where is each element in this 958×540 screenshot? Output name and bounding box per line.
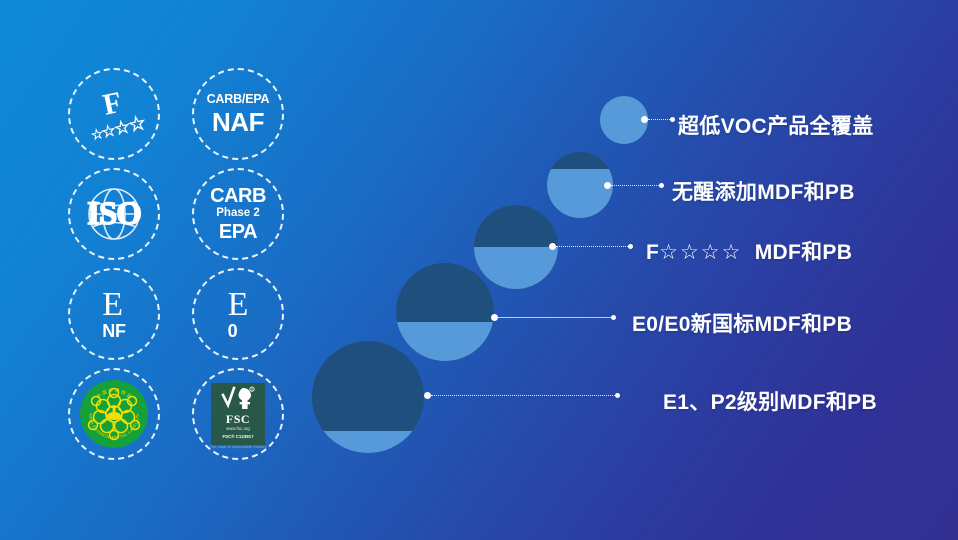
connector-end-dot <box>670 117 675 122</box>
svg-text:中 国 环 境 标 志: 中 国 环 境 标 志 <box>95 387 133 400</box>
carb-line: CARB <box>210 186 266 206</box>
f-four-star-content: F ☆☆☆☆ <box>82 84 146 144</box>
connector-line <box>498 317 611 318</box>
china-environmental-labelling-icon: 中 国 环 境 标 志 CHINA ENVIRONMENTAL LABELLIN… <box>80 380 148 448</box>
phase2-line: Phase 2 <box>216 208 259 220</box>
connector-end-dot <box>659 183 664 188</box>
china-label-logo: 中 国 环 境 标 志 CHINA ENVIRONMENTAL LABELLIN… <box>80 380 148 448</box>
bubble-f-four-star <box>474 205 558 289</box>
fsc-code: FSC® C123917 <box>222 434 253 439</box>
connector-line <box>556 246 628 247</box>
carb-epa-naf-line2: NAF <box>212 109 264 135</box>
e0-content: E 0 <box>228 288 249 340</box>
enf-subscript: NF <box>102 322 125 340</box>
carb-epa-naf-content: CARB/EPA NAF <box>207 93 270 135</box>
label-ultra-low-voc: 超低VOC产品全覆盖 <box>678 110 874 140</box>
fsc-tagline: The mark of responsible forestry <box>203 444 273 449</box>
connector-line <box>648 119 670 120</box>
e0-badge[interactable]: E 0 <box>192 268 284 360</box>
label-f-prefix: F <box>646 241 659 264</box>
f-four-star-badge[interactable]: F ☆☆☆☆ <box>68 68 160 160</box>
iso-content: ISO <box>72 184 156 244</box>
carb-epa-naf-badge[interactable]: CARB/EPA NAF <box>192 68 284 160</box>
label-no-formaldehyde: 无醒添加MDF和PB <box>672 176 855 206</box>
enf-content: E NF <box>102 288 125 340</box>
connector-no-formaldehyde <box>604 184 664 186</box>
e0-big-letter: E <box>228 288 249 322</box>
enf-big-letter: E <box>102 288 123 322</box>
fsc-badge[interactable]: R FSC www.fsc.org FSC® C123917 The mark … <box>192 368 284 460</box>
connector-f-four-star <box>549 245 633 247</box>
iso-badge[interactable]: ISO <box>68 168 160 260</box>
connector-end-dot <box>615 393 620 398</box>
china-environmental-labelling-badge[interactable]: 中 国 环 境 标 志 CHINA ENVIRONMENTAL LABELLIN… <box>68 368 160 460</box>
fsc-logo: R FSC www.fsc.org FSC® C123917 <box>211 383 265 445</box>
connector-e1-p2 <box>424 394 620 396</box>
fsc-tree-check-icon: R <box>221 386 255 412</box>
connector-start-dot <box>424 392 431 399</box>
carb-epa-naf-line1: CARB/EPA <box>207 93 270 106</box>
bubble-e0-new-standard <box>396 263 494 361</box>
fsc-url: www.fsc.org <box>226 426 250 431</box>
label-f-suffix: MDF和PB <box>755 241 852 264</box>
connector-line <box>431 395 615 396</box>
slide-canvas: F ☆☆☆☆ CARB/EPA NAF <box>0 0 958 540</box>
certification-badge-grid: F ☆☆☆☆ CARB/EPA NAF <box>64 68 304 468</box>
connector-start-dot <box>604 182 611 189</box>
connector-end-dot <box>628 244 633 249</box>
label-e0-new-standard: E0/E0新国标MDF和PB <box>632 308 852 338</box>
label-f-four-star: F☆☆☆☆ MDF和PB <box>646 236 852 266</box>
svg-text:R: R <box>251 388 253 392</box>
fsc-title: FSC <box>226 413 250 425</box>
label-e1-p2: E1、P2级别MDF和PB <box>663 386 877 416</box>
iso-text: ISO <box>87 196 141 233</box>
connector-start-dot <box>641 116 648 123</box>
label-f-stars: ☆☆☆☆ <box>659 241 742 264</box>
connector-e0-new-standard <box>491 316 616 318</box>
enf-badge[interactable]: E NF <box>68 268 160 360</box>
carb-phase2-epa-badge[interactable]: CARB Phase 2 EPA <box>192 168 284 260</box>
bubble-e1-p2 <box>312 341 424 453</box>
connector-start-dot <box>549 243 556 250</box>
connector-start-dot <box>491 314 498 321</box>
carb-phase2-epa-content: CARB Phase 2 EPA <box>210 186 266 243</box>
connector-ultra-low-voc <box>641 118 675 120</box>
connector-line <box>611 185 659 186</box>
star-row: ☆☆☆☆ <box>88 113 146 144</box>
f-letter: F <box>100 88 123 121</box>
e0-subscript: 0 <box>228 322 238 340</box>
epa-line: EPA <box>219 222 257 242</box>
connector-end-dot <box>611 315 616 320</box>
